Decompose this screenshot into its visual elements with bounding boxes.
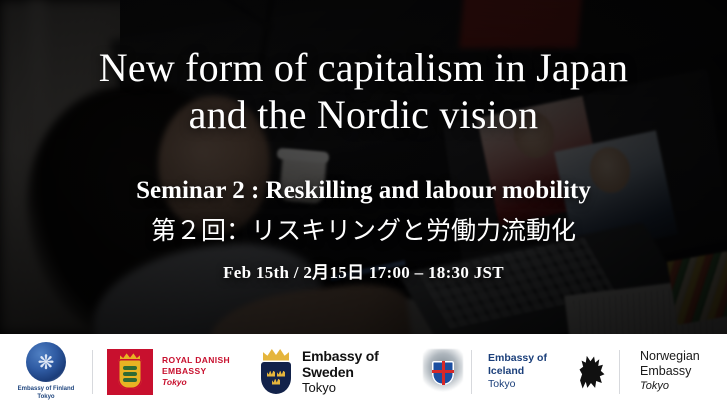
denmark-name: ROYAL DANISH EMBASSY	[162, 355, 253, 376]
logo-divider-3	[619, 350, 620, 394]
sweden-city: Tokyo	[302, 380, 421, 396]
finland-caption-line-2: Tokyo	[18, 393, 75, 401]
logo-norwegian-embassy: Norwegian Embassy Tokyo	[571, 334, 727, 409]
norway-city: Tokyo	[640, 379, 727, 393]
sweden-crown-icon	[263, 349, 289, 361]
sweden-crest-icon	[259, 349, 293, 395]
denmark-city: Tokyo	[162, 377, 253, 388]
finland-caption: Embassy of Finland Tokyo	[18, 385, 75, 401]
poster-subtitle-english: Seminar 2 : Reskilling and labour mobili…	[136, 176, 591, 206]
sweden-crown-small-2	[277, 371, 285, 377]
norway-name: Norwegian Embassy	[640, 349, 727, 379]
poster-subtitle-japanese: 第２回：リスキリングと労働力流動化	[151, 215, 576, 246]
finland-caption-line-1: Embassy of Finland	[18, 385, 75, 393]
embassy-logo-bar: ❋ Embassy of Finland Tokyo ROYAL DANISH …	[0, 334, 727, 409]
poster-datetime: Feb 15th / 2月15日 17:00 – 18:30 JST	[223, 258, 504, 283]
denmark-lion-1	[123, 366, 137, 370]
sweden-wordmark: Embassy of Sweden Tokyo	[302, 348, 421, 396]
sweden-shield-icon	[261, 362, 291, 394]
logo-embassy-of-sweden: Embassy of Sweden Tokyo	[253, 334, 421, 409]
iceland-coat-of-arms-icon	[423, 349, 463, 395]
iceland-city: Tokyo	[488, 378, 571, 392]
poster-title-line-2: and the Nordic vision	[189, 92, 539, 137]
logo-divider-2	[471, 350, 472, 394]
norway-lion-icon	[575, 350, 609, 394]
seminar-poster: New form of capitalism in Japan and the …	[0, 0, 727, 409]
logo-royal-danish-embassy: ROYAL DANISH EMBASSY Tokyo	[93, 334, 253, 409]
norway-lion-shape	[579, 355, 605, 389]
sweden-crown-small-1	[267, 371, 275, 377]
denmark-lion-3	[123, 378, 137, 382]
norway-wordmark: Norwegian Embassy Tokyo	[630, 349, 727, 393]
iceland-cross-vertical	[442, 361, 445, 385]
denmark-wordmark: ROYAL DANISH EMBASSY Tokyo	[162, 355, 253, 387]
denmark-lion-2	[123, 372, 137, 376]
iceland-name: Embassy of Iceland	[488, 352, 571, 378]
iceland-cross-horizontal	[432, 370, 454, 373]
denmark-shield-icon	[118, 359, 142, 389]
poster-title-line-1: New form of capitalism in Japan	[99, 45, 628, 90]
finland-lion-emblem-icon: ❋	[26, 342, 66, 382]
denmark-crest-icon	[107, 349, 153, 395]
sweden-crown-small-3	[272, 379, 280, 385]
iceland-wordmark: Embassy of Iceland Tokyo	[480, 352, 571, 392]
logo-embassy-of-iceland: Embassy of Iceland Tokyo	[421, 334, 571, 409]
logo-embassy-of-finland: ❋ Embassy of Finland Tokyo	[0, 334, 92, 409]
poster-title: New form of capitalism in Japan and the …	[99, 44, 628, 138]
poster-copy: New form of capitalism in Japan and the …	[0, 0, 727, 334]
sweden-name: Embassy of Sweden	[302, 348, 421, 380]
